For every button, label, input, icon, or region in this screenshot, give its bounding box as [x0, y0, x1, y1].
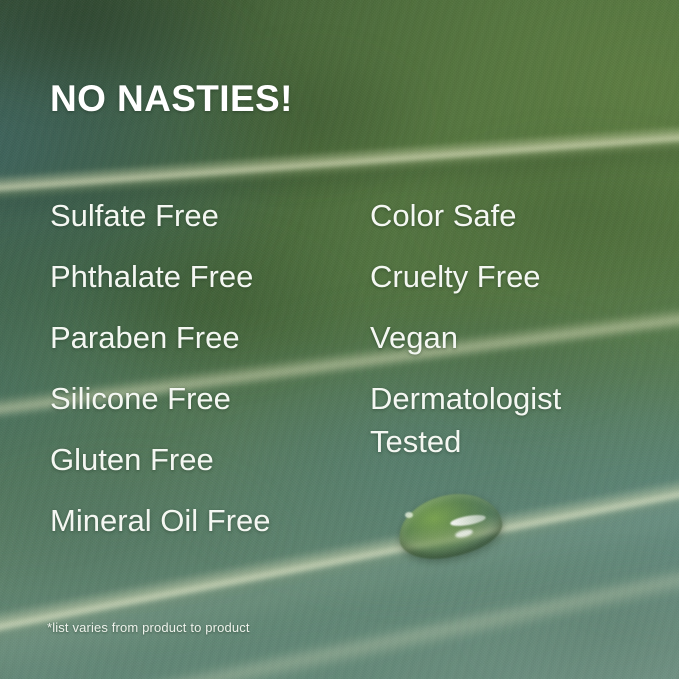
claim-item: Dermatologist Tested [370, 377, 650, 463]
footnote-text: *list varies from product to product [47, 620, 250, 635]
claims-list: Sulfate Free Phthalate Free Paraben Free… [50, 194, 650, 560]
claim-item: Vegan [370, 316, 650, 377]
claim-item: Color Safe [370, 194, 650, 255]
claims-column-left: Sulfate Free Phthalate Free Paraben Free… [50, 194, 370, 560]
claim-item: Cruelty Free [370, 255, 650, 316]
claim-item: Gluten Free [50, 438, 370, 499]
claims-column-right: Color Safe Cruelty Free Vegan Dermatolog… [370, 194, 650, 560]
page-title: NO NASTIES! [50, 78, 293, 120]
poster-content: NO NASTIES! Sulfate Free Phthalate Free … [0, 0, 679, 679]
no-nasties-poster: NO NASTIES! Sulfate Free Phthalate Free … [0, 0, 679, 679]
claim-item: Sulfate Free [50, 194, 370, 255]
claim-item: Mineral Oil Free [50, 499, 370, 560]
claim-item: Paraben Free [50, 316, 370, 377]
claim-item: Silicone Free [50, 377, 370, 438]
claim-item: Phthalate Free [50, 255, 370, 316]
